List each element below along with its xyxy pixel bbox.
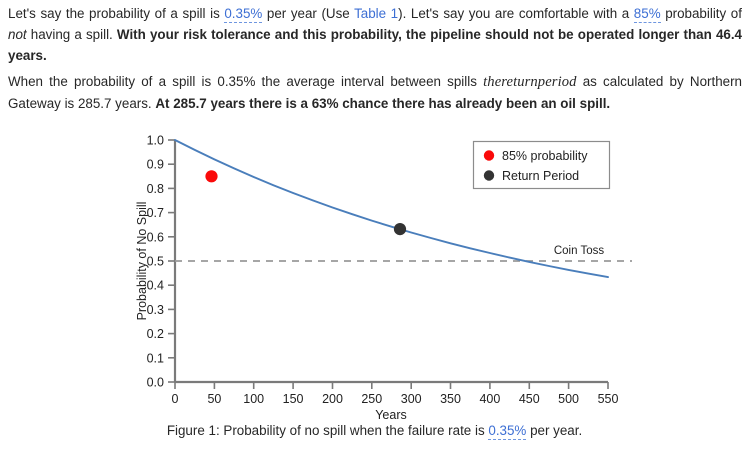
para1-segment-1: Let's say the probability of a spill is xyxy=(8,6,224,21)
x-tick-label: 100 xyxy=(243,392,264,406)
para2-math-return-period: thereturnperiod xyxy=(483,74,576,90)
link-table-1[interactable]: Table 1 xyxy=(354,6,398,21)
caption-prefix: Figure 1: Probability of no spill when t… xyxy=(167,423,489,438)
reference-line-label-coin-toss: Coin Toss xyxy=(554,245,605,257)
marker-85-percent-probability[interactable] xyxy=(205,170,217,182)
para1-segment-5: having a spill. xyxy=(27,27,117,42)
paragraph-risk-tolerance: Let's say the probability of a spill is … xyxy=(8,3,742,66)
y-tick-label: 0.4 xyxy=(147,279,164,293)
x-tick-label: 50 xyxy=(207,392,221,406)
y-axis-title: Probability of No Spill xyxy=(135,202,149,321)
y-axis-tick-labels: 1.0 0.9 0.8 0.7 0.6 0.5 0.4 0.3 0.2 0.1 … xyxy=(147,134,164,390)
chart-probability-no-spill: 1.0 0.9 0.8 0.7 0.6 0.5 0.4 0.3 0.2 0.1 … xyxy=(0,118,749,428)
para2-segment-1: When the probability of a spill is 0.35%… xyxy=(8,74,483,89)
x-tick-label: 150 xyxy=(283,392,304,406)
y-tick-label: 1.0 xyxy=(147,134,164,148)
x-tick-label: 250 xyxy=(361,392,382,406)
x-tick-label: 300 xyxy=(401,392,422,406)
x-axis-tick-labels: 0 50 100 150 200 250 300 350 400 450 500… xyxy=(172,392,619,406)
x-tick-label: 400 xyxy=(479,392,500,406)
x-tick-label: 350 xyxy=(440,392,461,406)
link-confidence-85[interactable]: 85% xyxy=(634,6,661,23)
x-tick-label: 200 xyxy=(322,392,343,406)
legend-swatch-85-percent-probability xyxy=(484,150,494,160)
para1-segment-2: per year (Use xyxy=(262,6,354,21)
caption-suffix: per year. xyxy=(526,423,582,438)
para2-bold-conclusion: At 285.7 years there is a 63% chance the… xyxy=(155,96,610,111)
legend-label-85-percent-probability: 85% probability xyxy=(502,149,588,163)
x-tick-label: 500 xyxy=(558,392,579,406)
paragraph-return-period: When the probability of a spill is 0.35%… xyxy=(8,71,742,114)
chart-legend: 85% probability Return Period xyxy=(474,142,610,189)
figure-probability-no-spill: 1.0 0.9 0.8 0.7 0.6 0.5 0.4 0.3 0.2 0.1 … xyxy=(0,118,749,457)
y-tick-label: 0.3 xyxy=(147,303,164,317)
y-tick-label: 0.2 xyxy=(147,327,164,341)
para1-segment-4: probability of xyxy=(661,6,742,21)
para1-segment-3: ). Let's say you are comfortable with a xyxy=(398,6,634,21)
y-tick-label: 0.0 xyxy=(147,376,164,390)
x-axis-title: Years xyxy=(375,408,407,422)
y-tick-label: 0.5 xyxy=(147,255,164,269)
para1-bold-conclusion: With your risk tolerance and this probab… xyxy=(8,27,742,63)
y-tick-label: 0.9 xyxy=(147,158,164,172)
para1-emphasis-not: not xyxy=(8,27,27,42)
y-tick-label: 0.7 xyxy=(147,206,164,220)
x-tick-label: 550 xyxy=(598,392,619,406)
caption-link-failure-rate[interactable]: 0.35% xyxy=(488,423,526,440)
legend-swatch-return-period xyxy=(484,170,494,180)
legend-label-return-period: Return Period xyxy=(502,169,579,183)
link-spill-rate[interactable]: 0.35% xyxy=(224,6,262,23)
y-tick-label: 0.1 xyxy=(147,351,164,365)
marker-return-period[interactable] xyxy=(394,223,406,235)
x-tick-label: 450 xyxy=(519,392,540,406)
y-tick-label: 0.8 xyxy=(147,182,164,196)
x-tick-label: 0 xyxy=(172,392,179,406)
y-tick-label: 0.6 xyxy=(147,230,164,244)
figure-caption: Figure 1: Probability of no spill when t… xyxy=(0,423,749,438)
